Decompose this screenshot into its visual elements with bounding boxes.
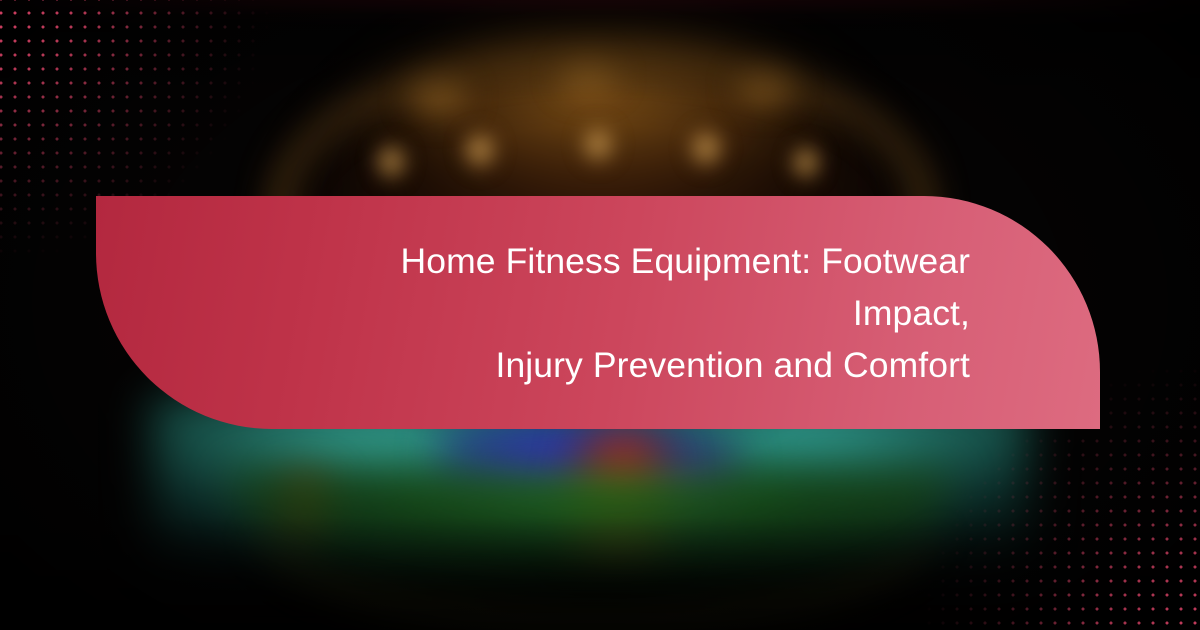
title-banner: Home Fitness Equipment: Footwear Impact,… — [96, 196, 1100, 429]
og-card: Home Fitness Equipment: Footwear Impact,… — [0, 0, 1200, 630]
page-title: Home Fitness Equipment: Footwear Impact,… — [300, 235, 1100, 391]
